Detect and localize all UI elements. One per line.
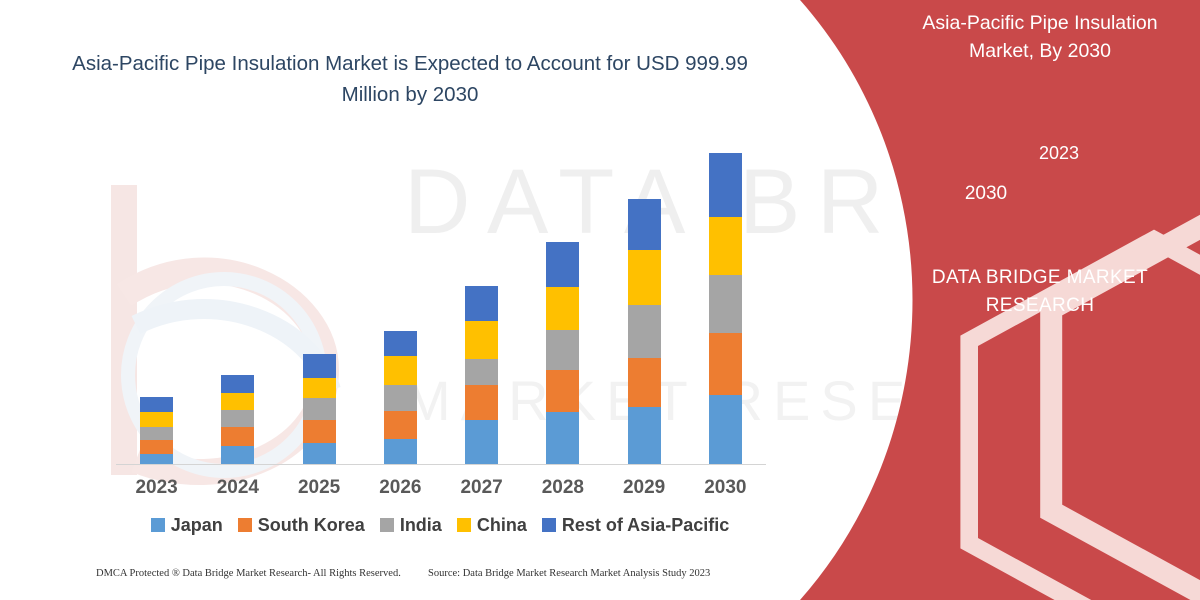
legend-label: India (400, 515, 442, 536)
bar-segment-south-korea (303, 420, 336, 443)
footer: DMCA Protected ® Data Bridge Market Rese… (0, 568, 790, 590)
legend-item-india[interactable]: India (380, 515, 442, 536)
bar-segment-india (303, 398, 336, 420)
bar-column-2030 (685, 145, 765, 464)
stacked-bar (384, 331, 417, 464)
bar-segment-india (465, 359, 498, 385)
legend-item-rest-of-asia-pacific[interactable]: Rest of Asia-Pacific (542, 515, 729, 536)
hexagon-2030-label: 2030 (965, 183, 1007, 205)
bar-column-2023 (117, 145, 197, 464)
bar-segment-south-korea (628, 358, 661, 407)
brand-panel: Asia-Pacific Pipe Insulation Market, By … (760, 0, 1200, 600)
bar-segment-china (465, 321, 498, 359)
brand-panel-title: Asia-Pacific Pipe Insulation Market, By … (890, 10, 1190, 65)
x-axis-labels: 20232024202520262027202820292030 (116, 475, 766, 501)
bar-segment-india (221, 410, 254, 427)
brand-name: DATA BRIDGE MARKET RESEARCH (880, 264, 1200, 319)
bar-segment-japan (546, 412, 579, 464)
bar-segment-china (384, 356, 417, 385)
x-tick-2023: 2023 (117, 477, 197, 499)
bar-column-2024 (198, 145, 278, 464)
bar-segment-south-korea (546, 370, 579, 412)
stacked-bar (546, 242, 579, 464)
hexagon-2023-shape (1016, 110, 1200, 600)
bar-segment-japan (465, 420, 498, 464)
bar-group (116, 145, 766, 464)
stacked-bar (140, 397, 173, 464)
footer-dmca-text: DMCA Protected ® Data Bridge Market Rese… (96, 568, 401, 579)
bar-segment-india (628, 305, 661, 358)
legend-item-south-korea[interactable]: South Korea (238, 515, 365, 536)
bar-segment-rest-of-asia-pacific (628, 199, 661, 250)
bar-segment-india (384, 385, 417, 411)
bar-segment-rest-of-asia-pacific (465, 286, 498, 321)
bar-segment-south-korea (140, 440, 173, 454)
bar-segment-south-korea (465, 385, 498, 420)
stacked-bar (628, 199, 661, 464)
bar-column-2029 (604, 145, 684, 464)
bar-column-2028 (523, 145, 603, 464)
x-tick-2028: 2028 (523, 477, 603, 499)
footer-source-text: Source: Data Bridge Market Research Mark… (428, 568, 710, 579)
bar-segment-south-korea (384, 411, 417, 439)
chart-title: Asia-Pacific Pipe Insulation Market is E… (60, 48, 760, 110)
bar-column-2026 (360, 145, 440, 464)
bar-segment-japan (384, 439, 417, 464)
legend-swatch-icon (151, 518, 165, 532)
bar-column-2027 (442, 145, 522, 464)
legend-label: China (477, 515, 527, 536)
bar-segment-japan (628, 407, 661, 464)
bar-segment-rest-of-asia-pacific (709, 153, 742, 217)
bar-segment-india (709, 275, 742, 333)
stacked-bar (303, 354, 336, 464)
bar-segment-china (303, 378, 336, 398)
chart-panel: Asia-Pacific Pipe Insulation Market is E… (0, 0, 790, 600)
legend-swatch-icon (542, 518, 556, 532)
hexagon-group: 2030 2023 (920, 110, 1170, 250)
plot-area (116, 145, 766, 465)
x-tick-2030: 2030 (685, 477, 765, 499)
hexagon-2023: 2023 (1016, 110, 1102, 196)
legend-item-japan[interactable]: Japan (151, 515, 223, 536)
bar-segment-japan (303, 443, 336, 464)
bar-column-2025 (279, 145, 359, 464)
chart-legend: JapanSouth KoreaIndiaChinaRest of Asia-P… (100, 512, 780, 538)
brand-panel-content: Asia-Pacific Pipe Insulation Market, By … (760, 0, 1200, 600)
bar-segment-japan (221, 446, 254, 464)
legend-swatch-icon (457, 518, 471, 532)
stacked-bar (221, 375, 254, 464)
bar-segment-rest-of-asia-pacific (546, 242, 579, 287)
bar-segment-india (546, 330, 579, 370)
legend-swatch-icon (238, 518, 252, 532)
bar-segment-rest-of-asia-pacific (384, 331, 417, 356)
infographic-canvas: DATA BRIDGE MARKET RESEARCH Asia-Pacific… (0, 0, 1200, 600)
x-tick-2029: 2029 (604, 477, 684, 499)
x-tick-2024: 2024 (198, 477, 278, 499)
bar-segment-china (628, 250, 661, 305)
bar-segment-china (546, 287, 579, 330)
bar-segment-china (221, 393, 254, 410)
hexagon-2023-label: 2023 (1039, 143, 1079, 164)
bar-segment-south-korea (221, 427, 254, 446)
bar-segment-china (140, 412, 173, 427)
bar-segment-rest-of-asia-pacific (221, 375, 254, 393)
bar-segment-rest-of-asia-pacific (140, 397, 173, 412)
x-axis-baseline (116, 464, 766, 465)
stacked-bar (465, 286, 498, 464)
bar-segment-rest-of-asia-pacific (303, 354, 336, 378)
x-tick-2026: 2026 (360, 477, 440, 499)
stacked-bar (709, 153, 742, 464)
legend-label: Rest of Asia-Pacific (562, 515, 729, 536)
legend-swatch-icon (380, 518, 394, 532)
bar-segment-japan (709, 395, 742, 464)
bar-segment-japan (140, 454, 173, 464)
legend-label: South Korea (258, 515, 365, 536)
bar-segment-china (709, 217, 742, 275)
bar-segment-india (140, 427, 173, 440)
bar-segment-south-korea (709, 333, 742, 395)
legend-item-china[interactable]: China (457, 515, 527, 536)
legend-label: Japan (171, 515, 223, 536)
x-tick-2025: 2025 (279, 477, 359, 499)
x-tick-2027: 2027 (442, 477, 522, 499)
